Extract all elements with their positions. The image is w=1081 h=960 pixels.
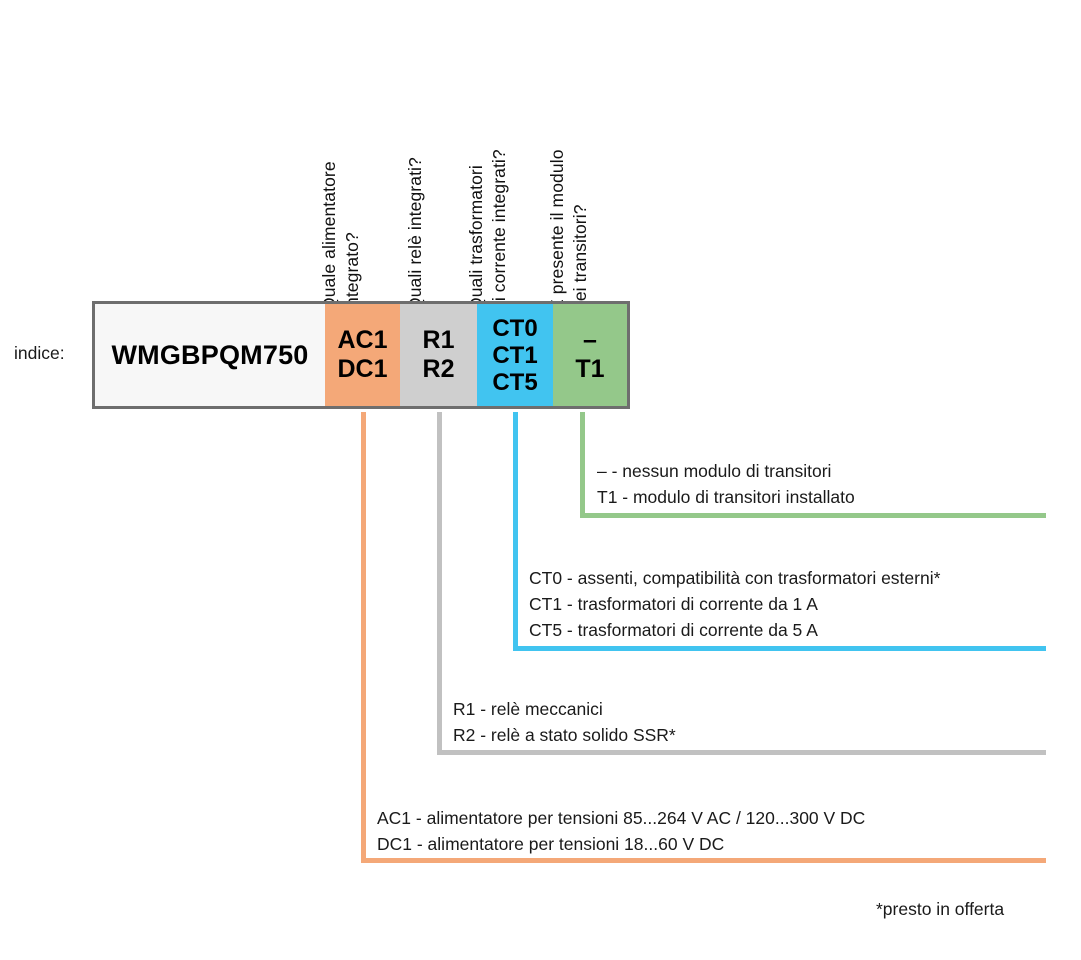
question-line-2: integrato?	[342, 232, 363, 311]
code-segment-base[interactable]: WMGBPQM750	[95, 304, 325, 406]
legend-transistor-row-1: – - nessun modulo di transitori	[597, 458, 855, 484]
legend-current-transformers: CT0 - assenti, compatibilità con trasfor…	[529, 565, 940, 643]
footnote-text: *presto in offerta	[876, 899, 1004, 920]
question-line-1: Quali trasformatori	[466, 165, 486, 311]
question-line-1: È presente il modulo	[547, 149, 567, 311]
code-base-text: WMGBPQM750	[111, 341, 308, 370]
connector-power-vertical	[361, 412, 366, 863]
connector-relay-horizontal	[437, 750, 1046, 755]
question-label-power-supply-line2: integrato?	[342, 232, 363, 311]
legend-relay-row-1: R1 - relè meccanici	[453, 696, 676, 722]
legend-relay-row-2: R2 - relè a stato solido SSR*	[453, 722, 676, 748]
legend-ct-row-2: CT1 - trasformatori di corrente da 1 A	[529, 591, 940, 617]
connector-transistor-horizontal	[580, 513, 1046, 518]
question-line-2: dei transitori?	[570, 204, 591, 311]
question-label-current-transformers-line2: di corrente integrati?	[489, 149, 510, 311]
question-label-current-transformers: Quali trasformatori	[466, 165, 487, 311]
code-relay-option-1: R1	[423, 326, 455, 355]
code-power-option-2: DC1	[337, 355, 387, 384]
code-ct-option-3: CT5	[492, 369, 537, 396]
question-line-1: Quali relè integrati?	[405, 157, 425, 311]
connector-relay-vertical	[437, 412, 442, 755]
code-relay-option-2: R2	[423, 355, 455, 384]
connector-power-horizontal	[361, 858, 1046, 863]
code-transistor-option-2: T1	[575, 355, 604, 384]
legend-transistor-row-2: T1 - modulo di transitori installato	[597, 484, 855, 510]
legend-power-row-2: DC1 - alimentatore per tensioni 18...60 …	[377, 831, 865, 857]
code-transistor-option-1: –	[583, 326, 597, 355]
question-label-transistor-module: È presente il modulo	[547, 149, 568, 311]
code-segment-power-supply[interactable]: AC1 DC1	[325, 304, 400, 406]
diagram-canvas: Quale alimentatore integrato? Quali relè…	[0, 0, 1081, 960]
legend-ct-row-3: CT5 - trasformatori di corrente da 5 A	[529, 617, 940, 643]
code-ct-option-2: CT1	[492, 342, 537, 369]
code-power-option-1: AC1	[337, 326, 387, 355]
legend-power-supply: AC1 - alimentatore per tensioni 85...264…	[377, 805, 865, 857]
legend-relays: R1 - relè meccanici R2 - relè a stato so…	[453, 696, 676, 748]
connector-ct-vertical	[513, 412, 518, 651]
product-code-box: WMGBPQM750 AC1 DC1 R1 R2 CT0 CT1 CT5 – T…	[92, 301, 630, 409]
legend-ct-row-1: CT0 - assenti, compatibilità con trasfor…	[529, 565, 940, 591]
question-label-power-supply: Quale alimentatore	[319, 161, 340, 311]
connector-ct-horizontal	[513, 646, 1046, 651]
code-segment-relays[interactable]: R1 R2	[400, 304, 477, 406]
legend-transistor-module: – - nessun modulo di transitori T1 - mod…	[597, 458, 855, 510]
code-segment-current-transformers[interactable]: CT0 CT1 CT5	[477, 304, 553, 406]
code-ct-option-1: CT0	[492, 315, 537, 342]
question-line-1: Quale alimentatore	[319, 161, 339, 311]
index-label: indice:	[14, 343, 65, 364]
legend-power-row-1: AC1 - alimentatore per tensioni 85...264…	[377, 805, 865, 831]
connector-transistor-vertical	[580, 412, 585, 518]
code-segment-transistor-module[interactable]: – T1	[553, 304, 627, 406]
question-line-2: di corrente integrati?	[489, 149, 510, 311]
question-label-transistor-module-line2: dei transitori?	[570, 204, 591, 311]
question-label-relays: Quali relè integrati?	[405, 157, 426, 311]
